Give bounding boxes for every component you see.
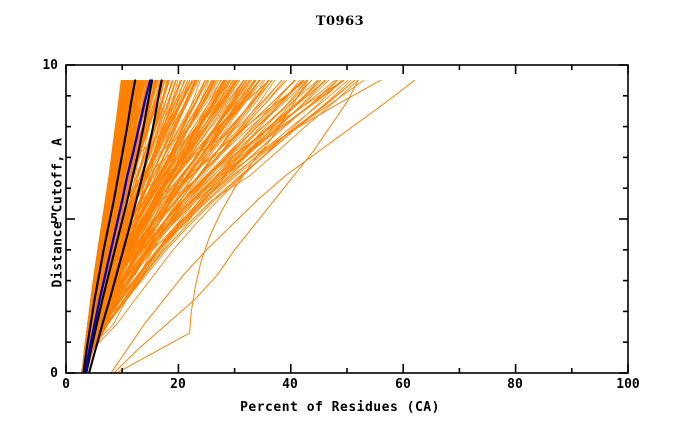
x-tick-label-40: 40 <box>270 377 310 392</box>
ensemble-curves-group <box>81 80 414 373</box>
y-tick-label-10: 10 <box>32 58 58 73</box>
x-tick-label-100: 100 <box>608 377 648 392</box>
y-tick-label-5: 5 <box>32 212 58 227</box>
x-axis-label: Percent of Residues (CA) <box>0 400 680 415</box>
plot-canvas <box>0 0 680 440</box>
page-title: T0963 <box>0 14 680 29</box>
x-tick-label-80: 80 <box>495 377 535 392</box>
x-tick-label-20: 20 <box>158 377 198 392</box>
y-tick-label-0: 0 <box>32 366 58 381</box>
x-tick-label-60: 60 <box>383 377 423 392</box>
plot-figure: T0963 Percent of Residues (CA) Distance … <box>0 0 680 440</box>
